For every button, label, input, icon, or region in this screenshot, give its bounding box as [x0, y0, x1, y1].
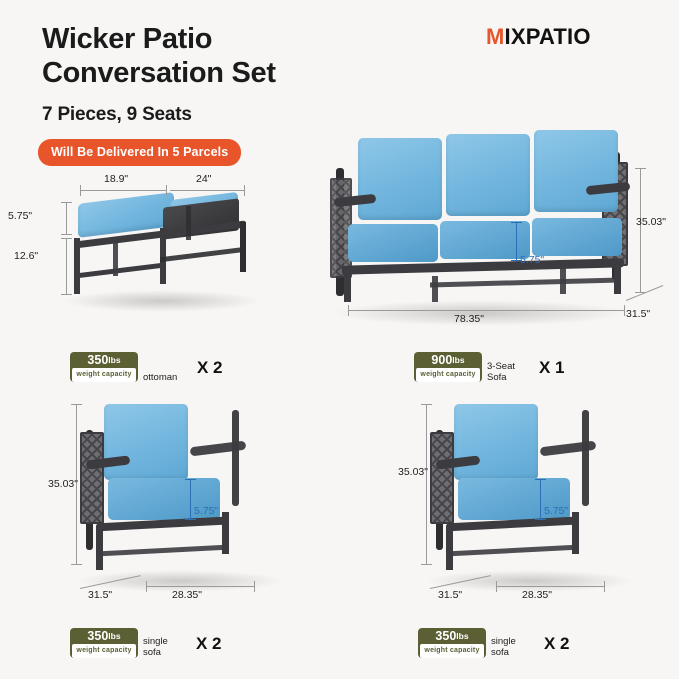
chair-right-dim-depth: 31.5": [438, 589, 462, 601]
sofa-quantity: X 1: [539, 358, 565, 378]
sofa-seat-cushion-1: [348, 224, 438, 262]
chair-left-tick-s2: [185, 519, 196, 520]
chair-right-tick-s2: [535, 519, 546, 520]
sofa-name-line-1: 3-Seat: [487, 361, 515, 372]
chair-left-tick-w1: [146, 581, 147, 592]
chair-right-quantity: X 2: [544, 634, 570, 654]
chair-right-tick-w1: [496, 581, 497, 592]
ottoman-dim-width-left: 18.9": [104, 173, 128, 185]
chair-left-dim-seat-thickness: 5.75": [194, 505, 218, 517]
sofa-leg-front-left: [344, 270, 351, 302]
chair-left-capacity-top: 350lbs: [70, 628, 138, 644]
ottoman-tick-d: [61, 202, 72, 203]
chair-right-leg-front: [446, 528, 453, 570]
chair-right-tick-w2: [604, 581, 605, 592]
ottoman-tick-c: [244, 185, 245, 196]
sofa-dim-line-seat: [516, 222, 517, 260]
sofa-leg-mid-right: [560, 268, 566, 294]
ottoman-dim-line-575: [66, 202, 67, 234]
chair-right-dim-line-seat: [540, 479, 541, 519]
ottoman-leg-mid: [113, 240, 118, 276]
delivery-badge: Will Be Delivered In 5 Parcels: [38, 139, 241, 166]
chair-left-tick-s1: [185, 479, 196, 480]
sofa-name-line-2: Sofa: [487, 372, 515, 383]
ottoman-leg-front-left: [74, 238, 80, 294]
chair-right-name-line-2: sofa: [491, 647, 516, 658]
ottoman-capacity-top: 350lbs: [70, 352, 138, 368]
chair-left-lattice: [80, 432, 104, 524]
chair-left-dim-depth: 31.5": [88, 589, 112, 601]
chair-right-post-right: [582, 410, 589, 506]
chair-left-name-line-1: single: [143, 636, 168, 647]
chair-left-stretcher: [100, 545, 226, 557]
chair-right-tick-h1: [421, 404, 432, 405]
sofa-dim-line-width: [348, 310, 624, 311]
chair-right-capacity-unit: lbs: [456, 631, 468, 641]
ottoman-dim-frame-height: 12.6": [14, 250, 38, 262]
ottoman-stretcher-front: [74, 262, 166, 278]
ottoman-quantity: X 2: [197, 358, 223, 378]
sofa-back-cushion-3: [534, 130, 618, 212]
ottoman-capacity-badge: 350lbs weight capacity: [70, 352, 138, 382]
ottoman-dim-line-126: [66, 238, 67, 294]
sofa-seat-cushion-3: [532, 218, 622, 256]
title-line-2: Conversation Set: [42, 56, 276, 90]
chair-right-capacity-value: 350: [435, 629, 456, 643]
ottoman-dim-cushion-height: 5.75": [8, 210, 32, 222]
chair-left-capacity-unit: lbs: [108, 631, 120, 641]
chair-right-capacity-top: 350lbs: [418, 628, 486, 644]
sofa-dim-height: 35.03": [636, 216, 666, 228]
chair-left-dim-width: 28.35": [172, 589, 202, 601]
chair-left-capacity-value: 350: [87, 629, 108, 643]
chair-left-name-line-2: sofa: [143, 647, 168, 658]
sofa-tick-s1: [511, 222, 522, 223]
sofa-capacity-badge: 900lbs weight capacity: [414, 352, 482, 382]
sofa-tick-h1: [635, 168, 646, 169]
chair-left-dim-height: 35.03": [48, 478, 78, 490]
chair-left-back-cushion: [104, 404, 188, 480]
sofa-dim-depth: 31.5": [626, 308, 650, 320]
sofa-dim-width: 78.35": [454, 313, 484, 325]
page-title: Wicker Patio Conversation Set: [42, 22, 276, 90]
sofa-capacity-value: 900: [431, 353, 452, 367]
ottoman-capacity-value: 350: [87, 353, 108, 367]
chair-right-tick-s1: [535, 479, 546, 480]
ottoman-leg-back-left: [186, 206, 191, 240]
chair-left-name: single sofa: [143, 636, 168, 658]
ottoman-tick-g: [61, 294, 72, 295]
ottoman-name: ottoman: [143, 372, 177, 383]
chair-left-dim-line-width: [146, 586, 254, 587]
brand-logo-initial: M: [486, 24, 505, 49]
chair-left-tick-h2: [71, 564, 82, 565]
chair-left-post-right: [232, 410, 239, 506]
product-infographic: Wicker Patio Conversation Set 7 Pieces, …: [0, 0, 679, 679]
sofa-tick-w1: [348, 305, 349, 316]
ottoman-capacity-label: weight capacity: [72, 368, 136, 382]
ottoman-dim-width-right: 24": [196, 173, 211, 185]
ottoman-dim-line-24: [170, 190, 244, 191]
brand-logo-text: IXPATIO: [505, 24, 591, 49]
sofa-dim-line-depth: [626, 285, 663, 301]
chair-left-dim-line-seat: [190, 479, 191, 519]
chair-left-capacity-label: weight capacity: [72, 644, 136, 658]
ottoman-stretcher-side: [160, 247, 246, 263]
ottoman-tick-b: [166, 185, 167, 196]
sofa-tick-w2: [624, 305, 625, 316]
chair-right-name-line-1: single: [491, 636, 516, 647]
chair-right-dim-width: 28.35": [522, 589, 552, 601]
ottoman-tick-a: [80, 185, 81, 196]
ottoman-shadow: [62, 290, 262, 312]
sofa-leg-mid-left: [432, 276, 438, 302]
chair-right-stretcher: [450, 545, 576, 557]
ottoman-tick-f: [61, 238, 72, 239]
ottoman-dim-line-189: [80, 190, 166, 191]
chair-right-back-cushion: [454, 404, 538, 480]
sofa-dim-seat-thickness: 5.75": [520, 254, 544, 266]
sofa-capacity-top: 900lbs: [414, 352, 482, 368]
sofa-capacity-unit: lbs: [452, 355, 464, 365]
sofa-name: 3-Seat Sofa: [487, 361, 515, 383]
chair-right-dim-height: 35.03": [398, 466, 428, 478]
chair-right-capacity-label: weight capacity: [420, 644, 484, 658]
chair-left-tick-w2: [254, 581, 255, 592]
title-line-1: Wicker Patio: [42, 22, 276, 56]
page-subtitle: 7 Pieces, 9 Seats: [42, 104, 192, 126]
brand-logo: MIXPATIO: [486, 24, 591, 50]
chair-right-capacity-badge: 350lbs weight capacity: [418, 628, 486, 658]
chair-right-name: single sofa: [491, 636, 516, 658]
sofa-capacity-label: weight capacity: [416, 368, 480, 382]
chair-right-dim-line-height: [426, 404, 427, 564]
sofa-dim-line-height: [640, 168, 641, 292]
chair-right-dim-line-width: [496, 586, 604, 587]
chair-left-leg-front: [96, 528, 103, 570]
chair-right-lattice: [430, 432, 454, 524]
chair-left-tick-h1: [71, 404, 82, 405]
sofa-back-cushion-2: [446, 134, 530, 216]
chair-right-tick-h2: [421, 564, 432, 565]
chair-left-quantity: X 2: [196, 634, 222, 654]
ottoman-capacity-unit: lbs: [108, 355, 120, 365]
ottoman-tick-e: [61, 234, 72, 235]
chair-left-capacity-badge: 350lbs weight capacity: [70, 628, 138, 658]
sofa-back-cushion-1: [358, 138, 442, 220]
sofa-stretcher: [430, 278, 620, 288]
chair-right-dim-seat-thickness: 5.75": [544, 505, 568, 517]
